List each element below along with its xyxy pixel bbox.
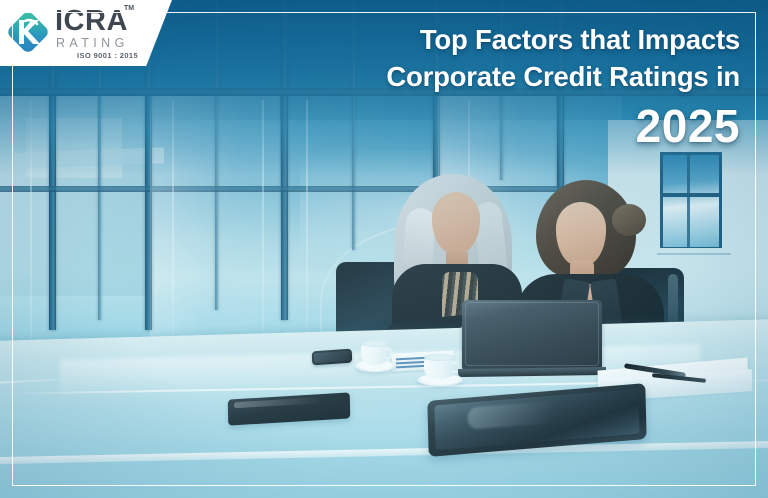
face [432,192,480,254]
phone-screen [314,351,350,363]
logo-k-glyph [15,18,41,46]
logo-wordmark: ICRA TM RATING ISO 9001 : 2015 [55,7,138,59]
coffee-cup [417,348,463,386]
logo-trademark: TM [124,5,134,12]
face [556,202,606,266]
laptop-lid-edge [465,302,599,366]
cup-rim [361,340,388,347]
promotional-banner: Top Factors that Impacts Corporate Credi… [0,0,768,498]
logo-subname: RATING [56,37,138,50]
smartphone [312,349,352,366]
notebook-sheen [234,397,324,408]
headline-line-2: Corporate Credit Ratings in [270,59,740,96]
logo-certification: ISO 9001 : 2015 [77,52,138,60]
icra-logo-banner[interactable]: ICRA TM RATING ISO 9001 : 2015 [0,0,172,66]
window-sill [657,248,731,255]
cup-handle [382,348,393,359]
laptop-hinge [458,367,606,377]
headline-line-1: Top Factors that Impacts [270,22,740,59]
hair-bun [612,204,646,236]
cup-rim [424,354,455,361]
laptop [462,300,602,378]
headline-block: Top Factors that Impacts Corporate Credi… [270,22,740,153]
icra-k-monogram-icon [6,10,50,54]
window-bar [663,193,719,197]
coffee-cup [355,338,395,372]
headline-year: 2025 [270,99,740,153]
